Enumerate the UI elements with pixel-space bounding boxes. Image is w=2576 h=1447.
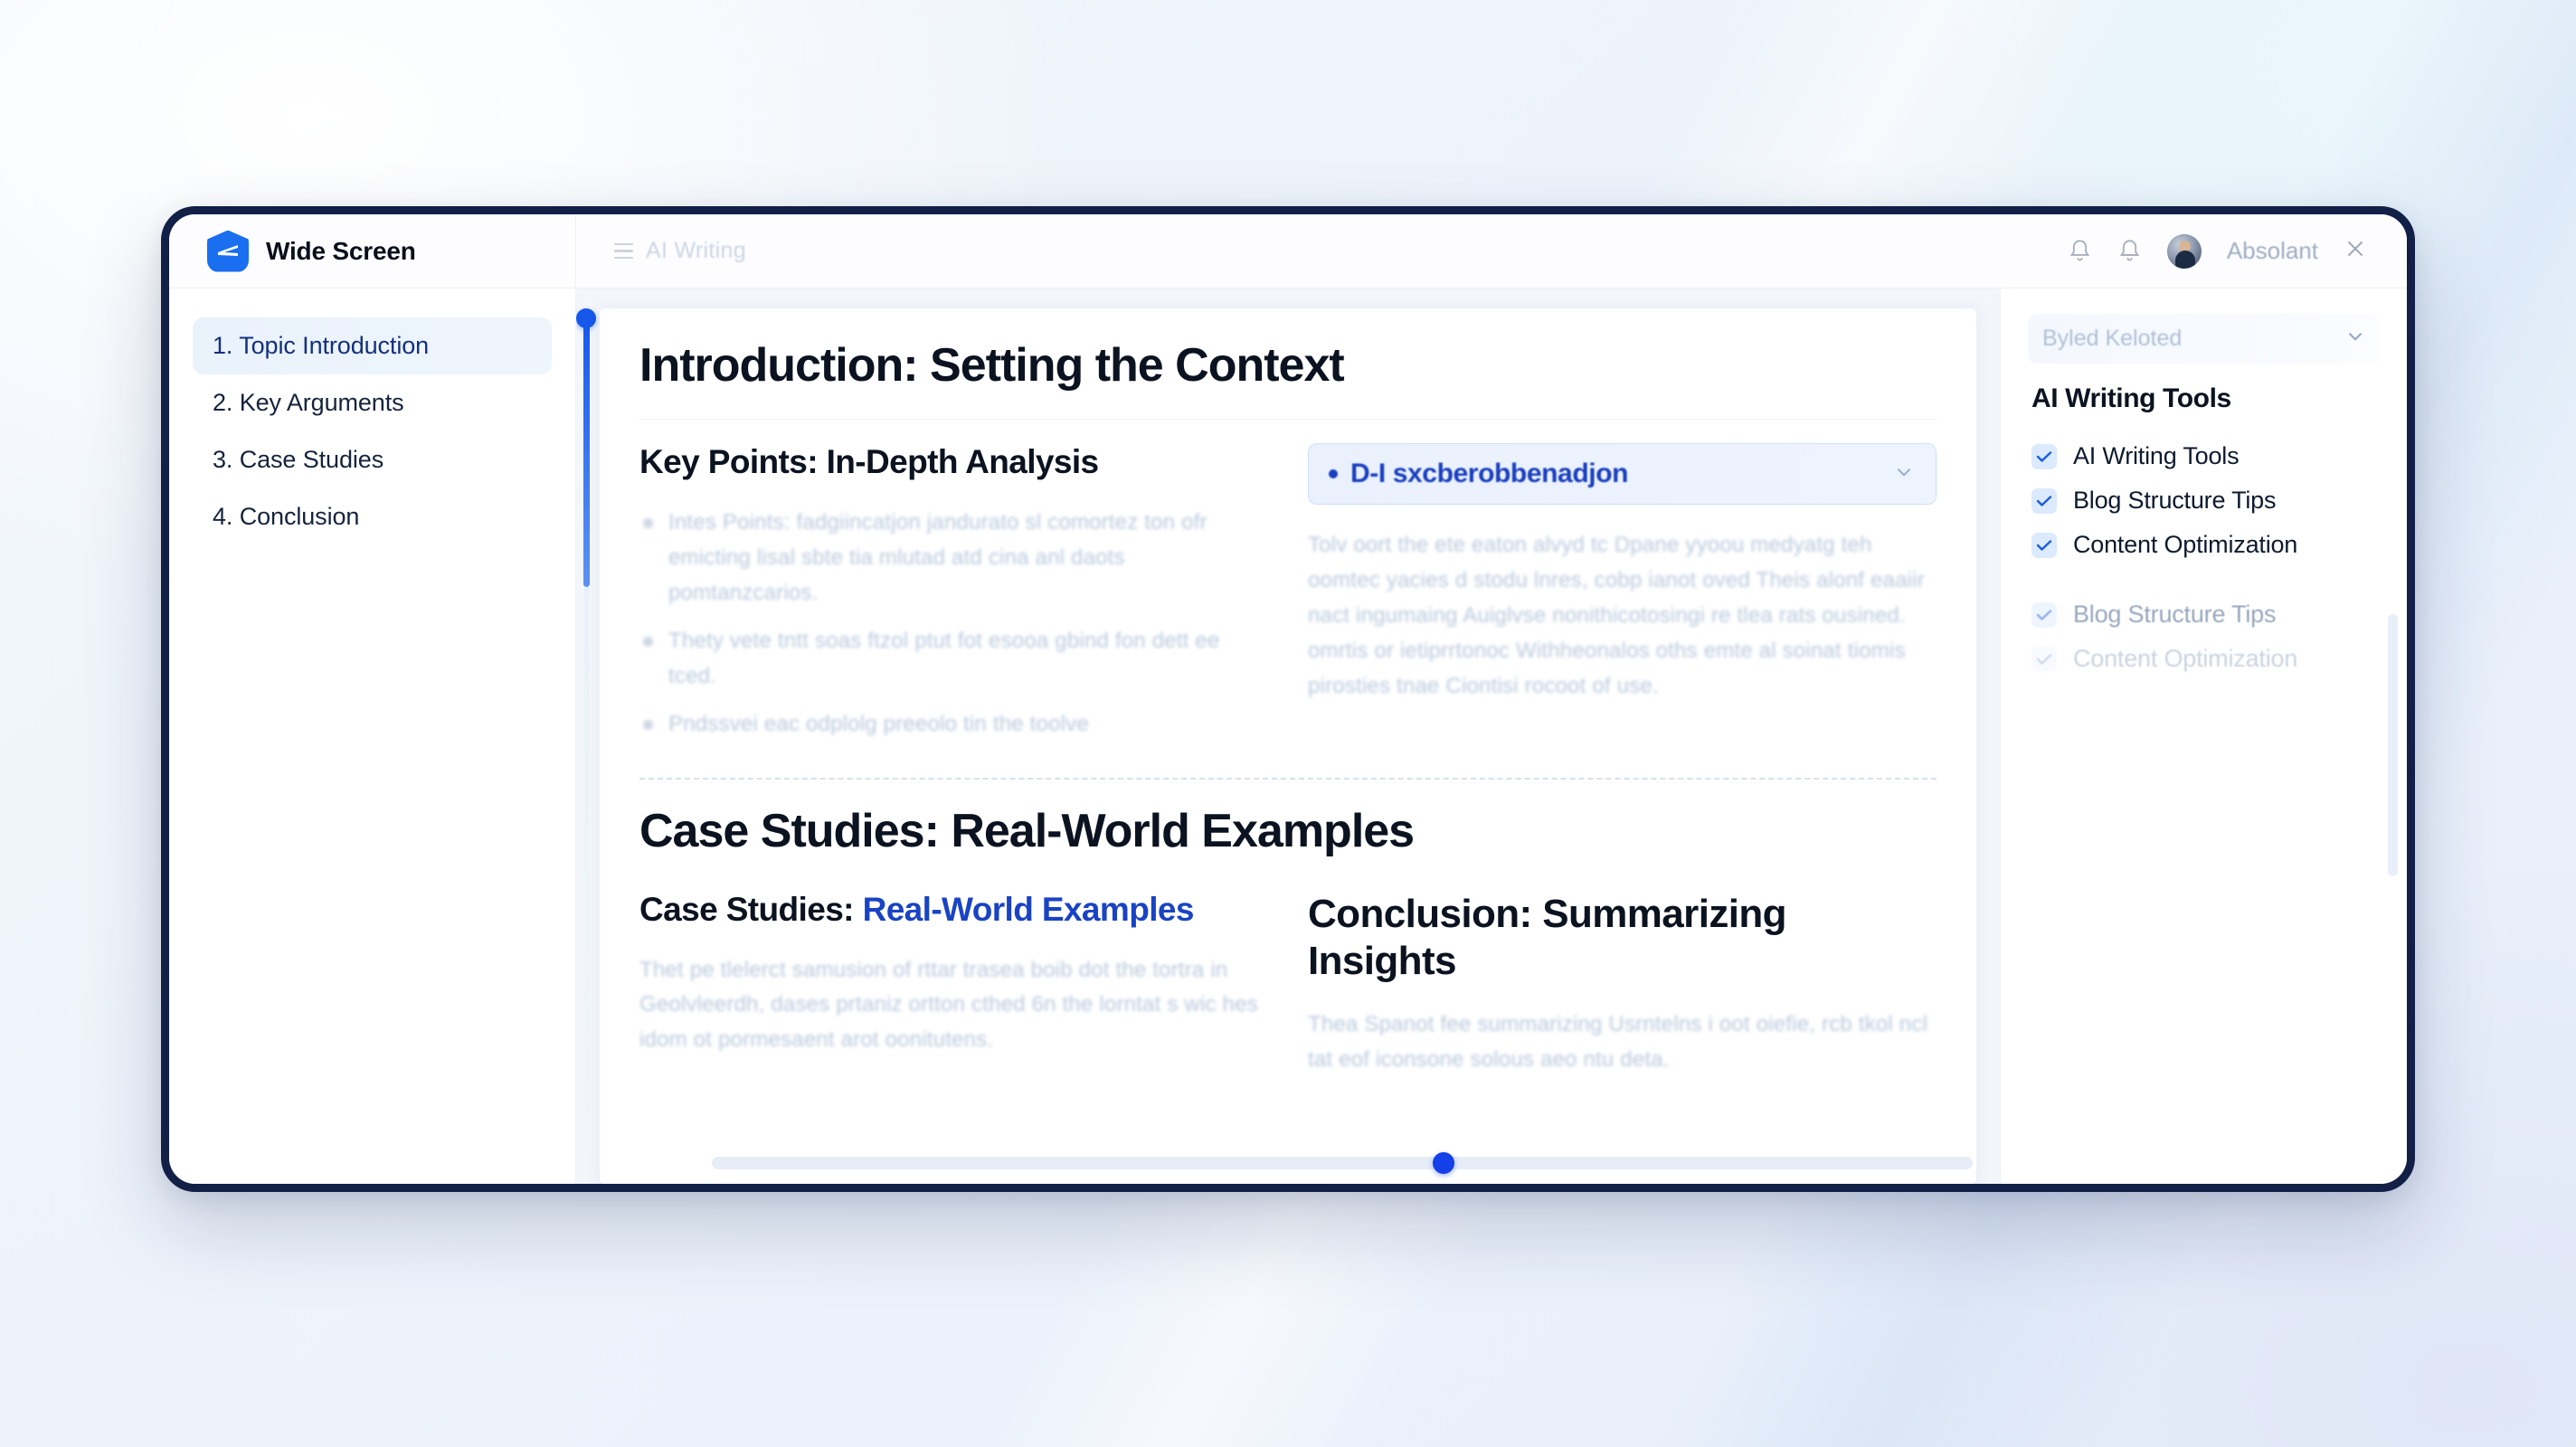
tools-panel-select[interactable]: Byled Keloted xyxy=(2028,314,2380,364)
hamburger-menu-icon[interactable] xyxy=(614,243,633,260)
top-bar-middle: AI Writing xyxy=(576,238,2068,264)
section-two-left: Case Studies: Real-World Examples Thet p… xyxy=(639,891,1268,1059)
bullet-dot-icon xyxy=(1329,469,1338,478)
window-body: 1. Topic Introduction 2. Key Arguments 3… xyxy=(169,288,2407,1184)
document-title: Introduction: Setting the Context xyxy=(639,339,1937,392)
checkbox-label: Content Optimization xyxy=(2073,645,2297,673)
title-divider xyxy=(639,419,1937,420)
pentagon-flag-logo-icon xyxy=(207,231,249,272)
outline-sidebar: 1. Topic Introduction 2. Key Arguments 3… xyxy=(169,288,576,1184)
app-window: Wide Screen AI Writing xyxy=(161,206,2415,1192)
key-points-list: Intes Points: fadgiincatjon jandurato sl… xyxy=(639,506,1268,742)
checkbox-row-blog-structure-tips[interactable]: Blog Structure Tips xyxy=(2028,478,2380,523)
inline-select-row[interactable]: D-I sxcberobbenadjon xyxy=(1308,443,1937,505)
section-two-left-paragraph: Thet pe tlelerct samusion of rttar trase… xyxy=(639,953,1268,1059)
tools-panel: Byled Keloted AI Writing Tools AI Writin… xyxy=(2000,288,2407,1184)
section-two: Case Studies: Real-World Examples Thet p… xyxy=(639,891,1937,1079)
list-item: Intes Points: fadgiincatjon jandurato sl… xyxy=(639,506,1268,611)
section-one-left: Key Points: In-Depth Analysis Intes Poin… xyxy=(639,443,1268,754)
tools-panel-title: AI Writing Tools xyxy=(2031,383,2380,414)
user-avatar[interactable] xyxy=(2167,234,2202,269)
checkbox-row-blog-structure-tips-secondary[interactable]: Blog Structure Tips xyxy=(2028,592,2380,637)
top-bar: Wide Screen AI Writing xyxy=(169,214,2407,288)
sidebar-item-topic-introduction[interactable]: 1. Topic Introduction xyxy=(193,317,552,374)
checkbox-row-content-optimization-secondary[interactable]: Content Optimization xyxy=(2028,637,2380,681)
user-name: Absolant xyxy=(2227,237,2318,265)
vertical-scroll-knob-top[interactable] xyxy=(576,308,596,328)
tab-ai-writing[interactable]: AI Writing xyxy=(646,238,746,264)
case-studies-subheading: Case Studies: Real-World Examples xyxy=(639,891,1268,930)
checkbox-label: Content Optimization xyxy=(2073,531,2297,559)
key-points-heading: Key Points: In-Depth Analysis xyxy=(639,443,1268,482)
list-item: Pndssvei eac odplolg preeolo tin the too… xyxy=(639,707,1268,742)
section-one-right: D-I sxcberobbenadjon Tolv oort the ete e… xyxy=(1308,443,1937,704)
document-vertical-scrollbar[interactable] xyxy=(576,316,596,1157)
checkbox-label: Blog Structure Tips xyxy=(2073,487,2276,515)
checkmark-icon[interactable] xyxy=(2031,533,2057,558)
chevron-down-icon[interactable] xyxy=(1892,460,1916,488)
checkbox-label: AI Writing Tools xyxy=(2073,442,2239,470)
brand-name: Wide Screen xyxy=(266,237,416,266)
section-two-right: Conclusion: Summarizing Insights Thea Sp… xyxy=(1308,891,1937,1079)
checkbox-row-ai-writing-tools[interactable]: AI Writing Tools xyxy=(2028,434,2380,478)
document-horizontal-scrollbar[interactable] xyxy=(712,1157,1973,1169)
bell-icon[interactable] xyxy=(2068,238,2092,264)
sidebar-item-case-studies[interactable]: 3. Case Studies xyxy=(193,431,552,488)
tools-panel-scrollbar[interactable] xyxy=(2388,614,2398,876)
section-two-right-paragraph: Thea Spanot fee summarizing Usrntelns i … xyxy=(1308,1007,1937,1078)
subheading-accent: Real-World Examples xyxy=(863,891,1194,928)
inline-select-label: D-I sxcberobbenadjon xyxy=(1329,459,1628,489)
checkmark-icon[interactable] xyxy=(2031,488,2057,514)
chevron-down-icon[interactable] xyxy=(2344,325,2367,353)
sidebar-item-key-arguments[interactable]: 2. Key Arguments xyxy=(193,374,552,431)
checkmark-icon[interactable] xyxy=(2031,602,2057,628)
case-studies-title: Case Studies: Real-World Examples xyxy=(639,805,1937,857)
checkbox-label: Blog Structure Tips xyxy=(2073,601,2276,629)
checkmark-icon[interactable] xyxy=(2031,647,2057,672)
subheading-prefix: Case Studies: xyxy=(639,891,863,928)
checkmark-icon[interactable] xyxy=(2031,444,2057,469)
bell-badge-icon[interactable] xyxy=(2117,238,2142,264)
top-bar-right: Absolant xyxy=(2068,234,2407,269)
sidebar-item-conclusion[interactable]: 4. Conclusion xyxy=(193,488,552,545)
section-one-right-paragraph: Tolv oort the ete eaton alvyd tc Dpane y… xyxy=(1308,528,1937,704)
section-divider xyxy=(639,778,1937,780)
inline-select-text: D-I sxcberobbenadjon xyxy=(1350,459,1628,489)
close-icon[interactable] xyxy=(2344,237,2367,265)
brand-area[interactable]: Wide Screen xyxy=(169,214,576,288)
horizontal-scroll-track[interactable] xyxy=(712,1157,1973,1169)
section-one: Key Points: In-Depth Analysis Intes Poin… xyxy=(639,443,1937,754)
option-group-gap xyxy=(2028,567,2380,592)
tools-panel-select-label: Byled Keloted xyxy=(2042,326,2182,352)
vertical-scroll-thumb[interactable] xyxy=(583,316,590,587)
list-item: Thety vete tntt soas ftzol ptut fot esoo… xyxy=(639,624,1268,695)
document-area: Introduction: Setting the Context Key Po… xyxy=(576,288,2000,1184)
checkbox-row-content-optimization[interactable]: Content Optimization xyxy=(2028,523,2380,567)
conclusion-heading: Conclusion: Summarizing Insights xyxy=(1308,891,1937,985)
document-page: Introduction: Setting the Context Key Po… xyxy=(600,308,1976,1184)
horizontal-scroll-knob[interactable] xyxy=(1433,1152,1454,1174)
